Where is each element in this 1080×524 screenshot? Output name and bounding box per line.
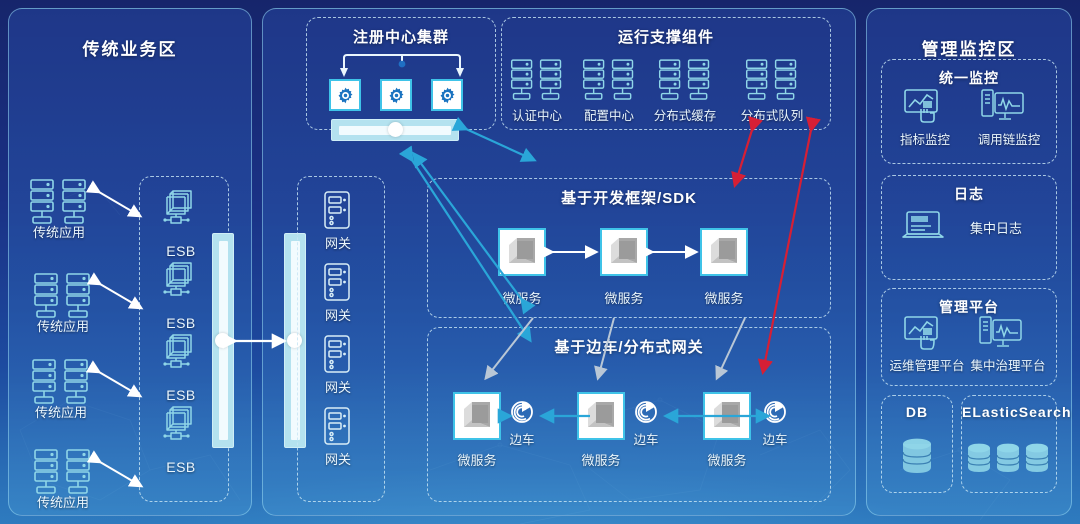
microservice-label: 微服务	[571, 450, 631, 469]
server-stack-icon	[32, 448, 94, 496]
esb-label: ESB	[155, 315, 207, 331]
gear-icon	[438, 86, 457, 105]
sidecar-section-title: 基于边车/分布式网关	[428, 336, 830, 357]
esb-icon	[160, 258, 202, 300]
legacy-app-label: 传统应用	[24, 492, 102, 511]
sdk-section-title: 基于开发框架/SDK	[428, 187, 830, 208]
mgmt-platform-title: 管理平台	[882, 297, 1056, 317]
microservice-node[interactable]	[498, 228, 546, 276]
esb-bus-node	[215, 333, 230, 348]
sidecar-spiral-icon	[634, 400, 658, 424]
cube-icon	[584, 400, 618, 432]
esb-label: ESB	[155, 459, 207, 475]
gear-icon	[336, 86, 355, 105]
server-stack-icon	[657, 58, 713, 102]
runtime-support-title: 运行支撑组件	[502, 26, 830, 47]
architecture-diagram: 传统业务区 传统应用 传统应用	[0, 0, 1080, 524]
microservice-label: 微服务	[694, 288, 754, 307]
registry-cluster-title: 注册中心集群	[307, 26, 495, 47]
microservice-label: 微服务	[697, 450, 757, 469]
mgmt-item-label: 运维管理平台	[885, 355, 969, 374]
cube-icon	[707, 236, 741, 268]
microservice-node[interactable]	[700, 228, 748, 276]
server-stack-icon	[509, 58, 565, 102]
gateway-icon	[322, 262, 352, 302]
registry-node[interactable]	[329, 79, 361, 111]
gateway-label: 网关	[313, 449, 363, 468]
trace-monitor-icon	[979, 315, 1023, 351]
runtime-item-label: 认证中心	[498, 105, 576, 124]
esb-icon	[160, 402, 202, 444]
sidecar-spiral-icon	[763, 400, 787, 424]
microservice-node[interactable]	[703, 392, 751, 440]
monitoring-item-label: 指标监控	[892, 129, 958, 148]
server-stack-icon	[744, 58, 800, 102]
registry-branch-connector	[330, 52, 474, 78]
sidecar-label: 边车	[750, 429, 800, 448]
runtime-item-label: 分布式缓存	[639, 105, 731, 124]
cube-icon	[607, 236, 641, 268]
gateway-label: 网关	[313, 377, 363, 396]
gateway-label: 网关	[313, 305, 363, 324]
gateway-icon	[322, 190, 352, 230]
logging-item-label: 集中日志	[960, 218, 1032, 237]
legacy-app-label: 传统应用	[22, 402, 100, 421]
microservice-label: 微服务	[594, 288, 654, 307]
esb-label: ESB	[155, 243, 207, 259]
metrics-monitor-icon	[903, 315, 943, 351]
monitoring-title: 统一监控	[882, 68, 1056, 88]
legacy-app-label: 传统应用	[24, 316, 102, 335]
elasticsearch-title: ELasticSearch	[962, 404, 1056, 420]
server-stack-icon	[28, 178, 90, 226]
registry-load-balancer-node	[388, 122, 403, 137]
esb-icon	[160, 330, 202, 372]
gateway-icon	[322, 334, 352, 374]
db-title: DB	[882, 404, 952, 420]
mgmt-item-label: 集中治理平台	[966, 355, 1050, 374]
metrics-monitor-icon	[903, 88, 943, 124]
sidecar-label: 边车	[621, 429, 671, 448]
runtime-item-label: 配置中心	[570, 105, 648, 124]
cube-icon	[460, 400, 494, 432]
esb-icon	[160, 186, 202, 228]
registry-node[interactable]	[431, 79, 463, 111]
legacy-app-label: 传统应用	[20, 222, 98, 241]
monitoring-item-label: 调用链监控	[968, 129, 1050, 148]
zone-management-title: 管理监控区	[867, 35, 1071, 60]
microservice-label: 微服务	[492, 288, 552, 307]
server-stack-icon	[581, 58, 637, 102]
server-stack-icon	[30, 358, 92, 406]
registry-node[interactable]	[380, 79, 412, 111]
trace-monitor-icon	[981, 88, 1025, 124]
gear-icon	[387, 86, 406, 105]
microservice-label: 微服务	[447, 450, 507, 469]
logging-title: 日志	[882, 184, 1056, 204]
database-cylinder-icon	[900, 437, 934, 477]
microservice-node[interactable]	[577, 392, 625, 440]
gateway-label: 网关	[313, 233, 363, 252]
esb-label: ESB	[155, 387, 207, 403]
laptop-log-icon	[901, 210, 947, 244]
database-cylinder-icon	[966, 442, 1052, 478]
cube-icon	[710, 400, 744, 432]
microservice-node[interactable]	[600, 228, 648, 276]
sidecar-spiral-icon	[510, 400, 534, 424]
sidecar-label: 边车	[497, 429, 547, 448]
cube-icon	[505, 236, 539, 268]
zone-legacy-title: 传统业务区	[9, 35, 251, 60]
runtime-item-label: 分布式队列	[726, 105, 818, 124]
server-stack-icon	[32, 272, 94, 320]
gateway-icon	[322, 406, 352, 446]
microservice-node[interactable]	[453, 392, 501, 440]
